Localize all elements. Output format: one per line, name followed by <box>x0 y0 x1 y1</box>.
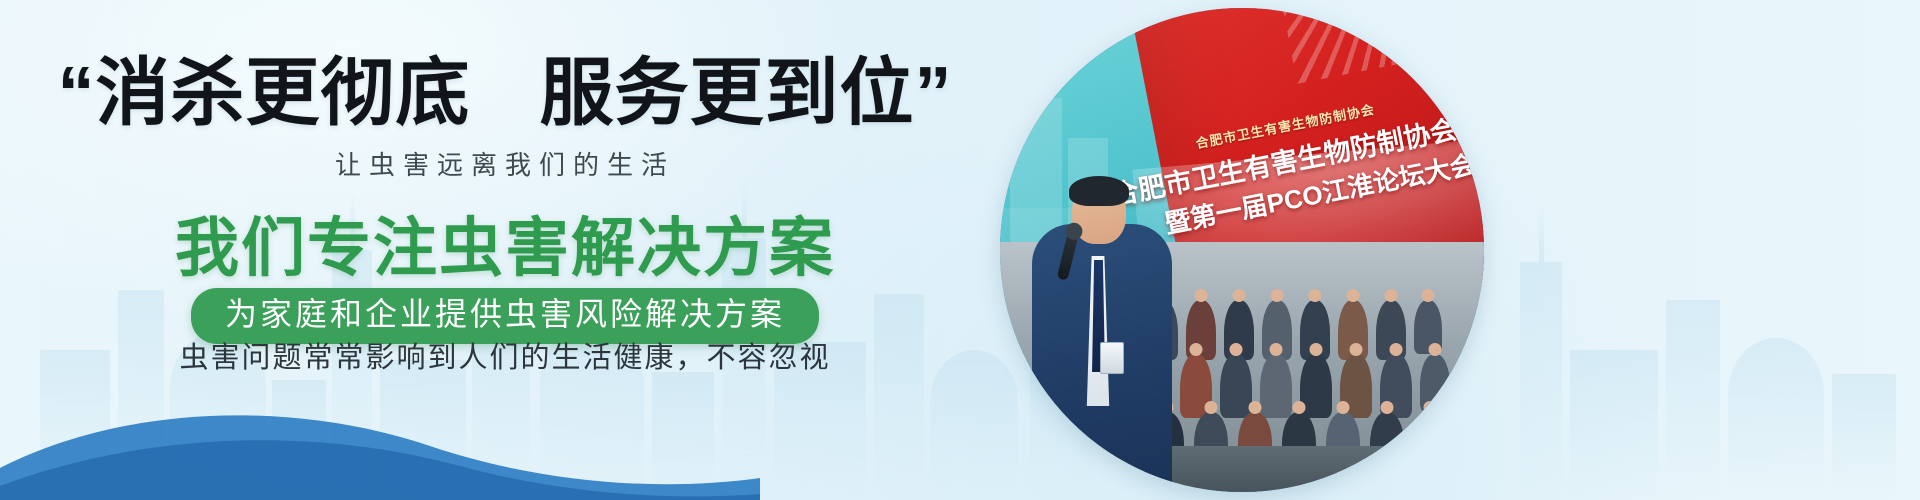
banner-text-block: “消杀更彻底 服务更到位” 让虫害远离我们的生活 我们专注虫害解决方案 为家庭和… <box>0 0 1010 500</box>
page-title: “消杀更彻底 服务更到位” <box>0 56 1010 130</box>
subtitle-text: 让虫害远离我们的生活 <box>0 152 1010 178</box>
speaker-badge <box>1100 342 1124 374</box>
speaker-hair <box>1069 176 1129 206</box>
pest-control-hero-banner: “消杀更彻底 服务更到位” 让虫害远离我们的生活 我们专注虫害解决方案 为家庭和… <box>0 0 1920 500</box>
speaker-figure <box>1026 132 1176 492</box>
banner-light-rays <box>1257 8 1484 84</box>
green-headline: 我们专注虫害解决方案 <box>0 216 1010 280</box>
solution-pill-badge: 为家庭和企业提供虫害风险解决方案 <box>191 288 819 344</box>
headline-part-left: “消杀更彻底 <box>57 51 470 134</box>
conference-photo: 合肥市卫生有害生物防制协会 合肥市卫生有害生物防制协会2023 暨第一届PCO江… <box>1000 8 1484 492</box>
tagline-text: 虫害问题常常影响到人们的生活健康，不容忽视 <box>0 344 1010 373</box>
headline-part-right: 服务更到位” <box>540 51 953 134</box>
